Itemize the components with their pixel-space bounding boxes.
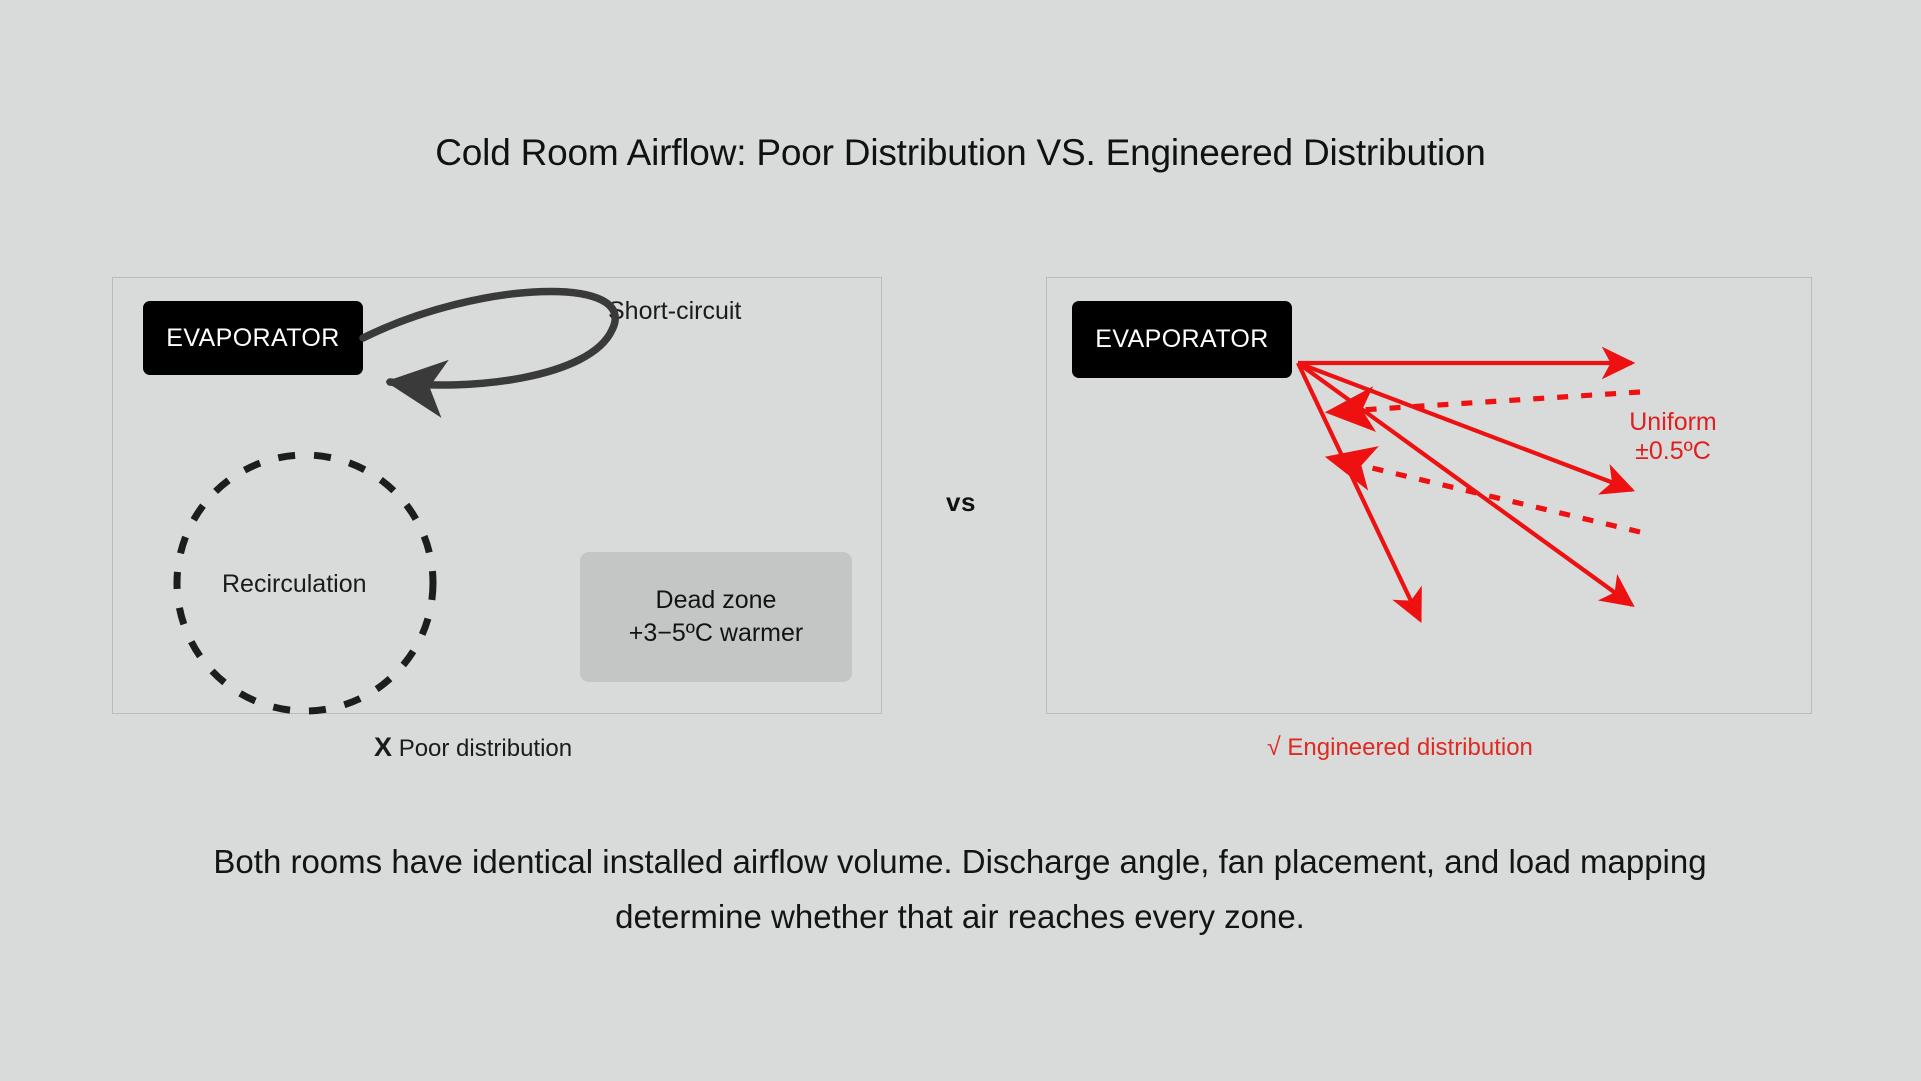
evaporator-box-left: EVAPORATOR <box>143 301 363 375</box>
evaporator-label-left: EVAPORATOR <box>166 324 339 353</box>
check-mark-icon: √ <box>1267 733 1281 761</box>
uniform-label-line2: ±0.5ºC <box>1588 437 1758 466</box>
page-title: Cold Room Airflow: Poor Distribution VS.… <box>0 132 1921 174</box>
dead-zone-box: Dead zone +3−5ºC warmer <box>580 552 852 682</box>
short-circuit-label: Short-circuit <box>608 297 741 326</box>
cross-mark-icon: X <box>374 732 392 762</box>
dead-zone-line1: Dead zone <box>656 584 777 617</box>
recirculation-label: Recirculation <box>222 570 367 599</box>
uniform-label-line1: Uniform <box>1588 408 1758 437</box>
right-caption-text: Engineered distribution <box>1287 734 1533 761</box>
left-panel-caption: X Poor distribution <box>374 732 572 763</box>
footnote-text: Both rooms have identical installed airf… <box>170 835 1750 945</box>
dead-zone-line2: +3−5ºC warmer <box>629 617 803 650</box>
evaporator-label-right: EVAPORATOR <box>1095 325 1268 354</box>
versus-divider-label: vs <box>928 487 994 518</box>
left-caption-text: Poor distribution <box>399 735 572 762</box>
right-panel-caption: √ Engineered distribution <box>1267 733 1533 762</box>
evaporator-box-right: EVAPORATOR <box>1072 301 1292 378</box>
uniform-temperature-label: Uniform ±0.5ºC <box>1588 408 1758 466</box>
